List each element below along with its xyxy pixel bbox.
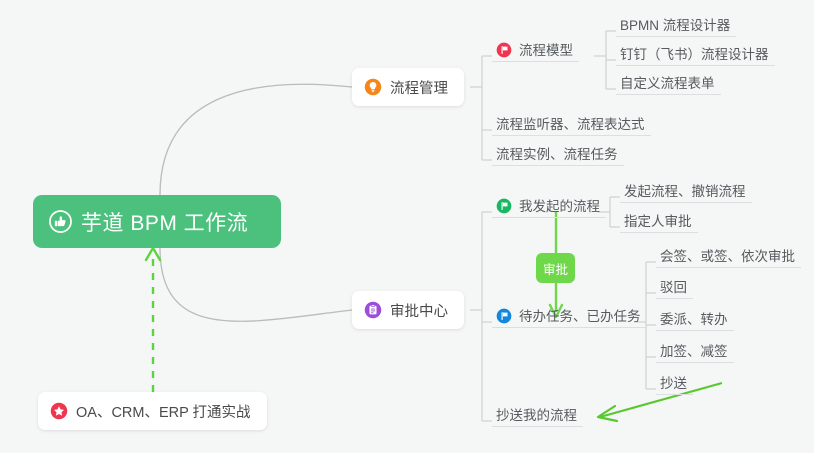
leaf-custom-process-form-label: 自定义流程表单 [620, 77, 715, 92]
leaf-add-remove-sign[interactable]: 加签、减签 [656, 333, 734, 363]
leaf-instance-task[interactable]: 流程实例、流程任务 [492, 136, 624, 166]
topic-approval-center-label: 审批中心 [390, 300, 448, 321]
leaf-bpmn-designer-label: BPMN 流程设计器 [620, 19, 730, 34]
leaf-delegate-transfer[interactable]: 委派、转办 [656, 301, 734, 331]
leaf-listener-expression[interactable]: 流程监听器、流程表达式 [492, 106, 651, 136]
leaf-listener-expression-label: 流程监听器、流程表达式 [496, 118, 645, 133]
approve-badge-label: 审批 [543, 259, 568, 278]
thumbs-up-icon [49, 210, 72, 233]
link-root-to-approval [160, 248, 352, 321]
integration-arrowhead [146, 248, 160, 260]
leaf-my-initiated[interactable]: 我发起的流程 [492, 188, 606, 218]
link-root-to-process [160, 84, 352, 195]
leaf-instance-task-label: 流程实例、流程任务 [496, 148, 618, 163]
leaf-dingtalk-feishu-designer-label: 钉钉（飞书）流程设计器 [620, 48, 769, 63]
topic-process-management[interactable]: 流程管理 [352, 68, 464, 106]
leaf-cc-label: 抄送 [660, 377, 687, 392]
star-icon [50, 402, 68, 420]
cc-arrowhead [598, 406, 617, 421]
flag-icon [496, 42, 512, 58]
leaf-cc[interactable]: 抄送 [656, 365, 693, 395]
leaf-assignee-approval-label: 指定人审批 [624, 215, 692, 230]
topic-process-management-label: 流程管理 [390, 77, 448, 98]
leaf-start-cancel-label: 发起流程、撤销流程 [624, 185, 746, 200]
card-integration-practice-label: OA、CRM、ERP 打通实战 [76, 401, 251, 422]
leaf-add-remove-sign-label: 加签、减签 [660, 345, 728, 360]
leaf-multi-approval[interactable]: 会签、或签、依次审批 [656, 238, 801, 268]
leaf-dingtalk-feishu-designer[interactable]: 钉钉（飞书）流程设计器 [616, 36, 775, 66]
leaf-bpmn-designer[interactable]: BPMN 流程设计器 [616, 7, 736, 37]
flag-icon [496, 308, 512, 324]
leaf-reject[interactable]: 驳回 [656, 269, 693, 299]
clipboard-icon [364, 301, 382, 319]
flag-icon [496, 198, 512, 214]
leaf-process-model[interactable]: 流程模型 [492, 32, 579, 62]
leaf-todo-done-tasks[interactable]: 待办任务、已办任务 [492, 298, 647, 328]
leaf-assignee-approval[interactable]: 指定人审批 [620, 203, 698, 233]
approve-badge[interactable]: 审批 [536, 253, 575, 283]
mindmap-canvas: 芋道 BPM 工作流 流程管理 审批中心 [0, 0, 814, 453]
topic-approval-center[interactable]: 审批中心 [352, 291, 464, 329]
leaf-custom-process-form[interactable]: 自定义流程表单 [616, 65, 721, 95]
leaf-delegate-transfer-label: 委派、转办 [660, 313, 728, 328]
leaf-cc-to-me[interactable]: 抄送我的流程 [492, 397, 583, 427]
lightbulb-icon [364, 78, 382, 96]
leaf-cc-to-me-label: 抄送我的流程 [496, 409, 577, 424]
root-label: 芋道 BPM 工作流 [81, 207, 248, 237]
leaf-process-model-label: 流程模型 [519, 44, 573, 59]
leaf-reject-label: 驳回 [660, 281, 687, 296]
leaf-my-initiated-label: 我发起的流程 [519, 200, 600, 215]
root-node[interactable]: 芋道 BPM 工作流 [33, 195, 281, 248]
leaf-multi-approval-label: 会签、或签、依次审批 [660, 250, 795, 265]
leaf-start-cancel[interactable]: 发起流程、撤销流程 [620, 173, 752, 203]
card-integration-practice[interactable]: OA、CRM、ERP 打通实战 [38, 392, 267, 430]
leaf-todo-done-tasks-label: 待办任务、已办任务 [519, 310, 641, 325]
